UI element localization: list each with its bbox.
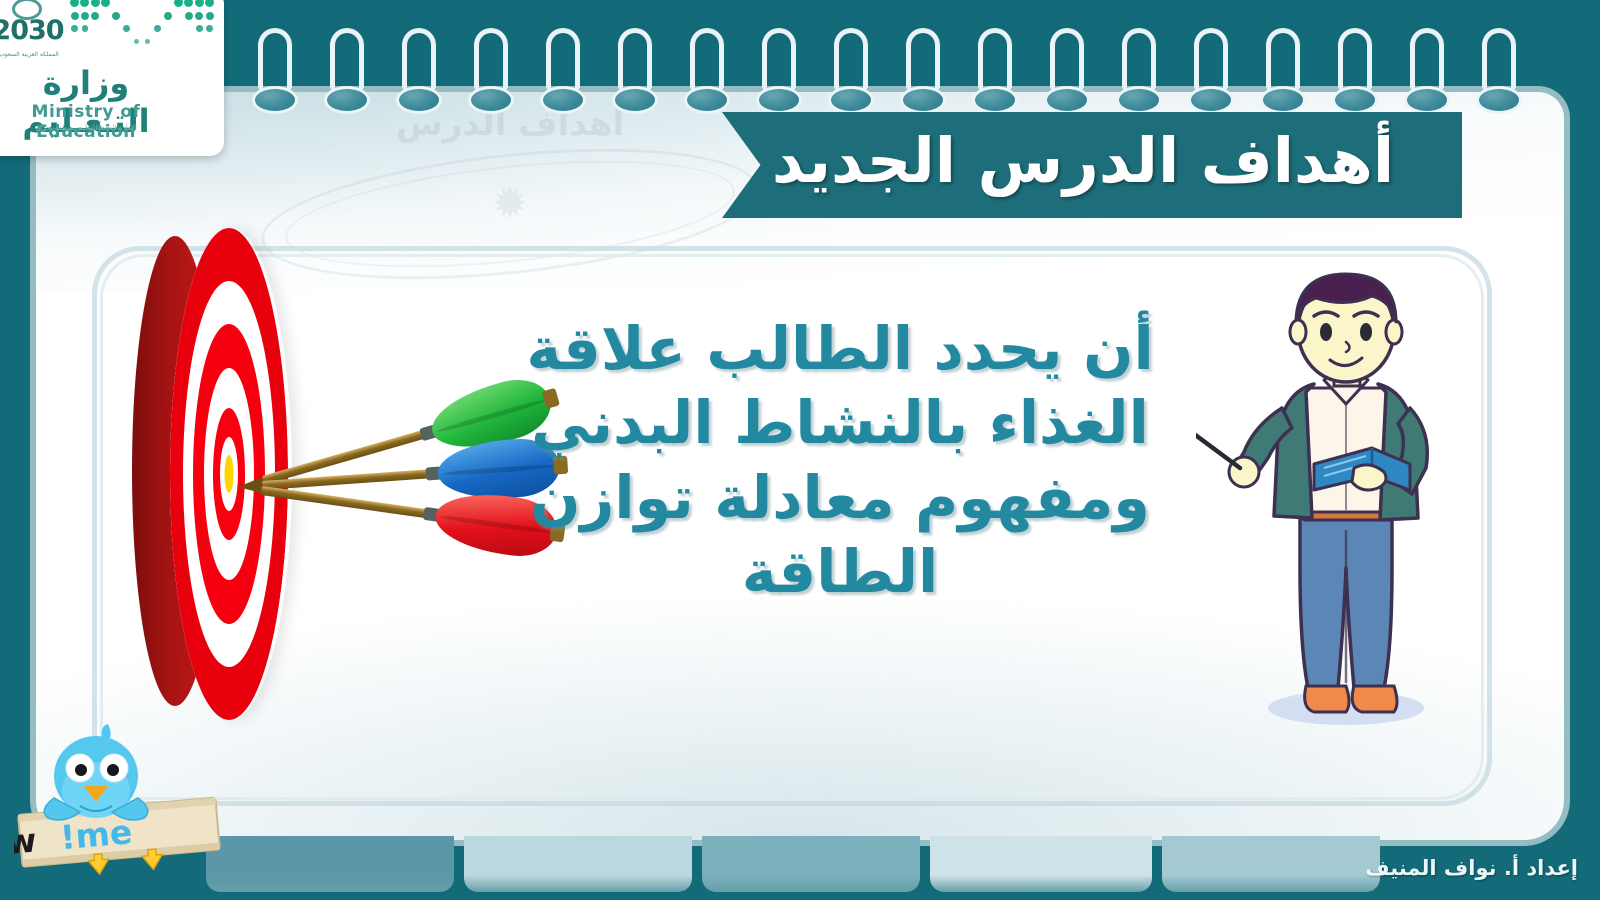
logo-dot: [71, 12, 79, 20]
spiral-ring-loop: [618, 28, 652, 90]
ministry-department-line: الإدارة العامة للتعليم بمنطقة نجران: [0, 124, 186, 132]
bottom-tab-1[interactable]: [206, 836, 454, 892]
slide-root: أهداف الدرس ✹ أهداف الدرس الجديد: [0, 0, 1600, 900]
logo-dot: [185, 12, 193, 20]
spiral-ring-loop: [1194, 28, 1228, 90]
logo-dot: [123, 25, 130, 32]
spiral-ring-loop: [258, 28, 292, 90]
spiral-ring-loop: [978, 28, 1012, 90]
dartboard-icon: [118, 228, 518, 728]
spiral-ring-loop: [762, 28, 796, 90]
bottom-tab-3[interactable]: [702, 836, 920, 892]
teacher-pointer-icon: [1196, 268, 1466, 738]
logo-dot: [164, 12, 172, 20]
follow-me-badge[interactable]: Follow me!: [14, 720, 228, 880]
spiral-ring-loop: [1122, 28, 1156, 90]
spiral-ring-loop: [1410, 28, 1444, 90]
spiral-ring-loop: [1482, 28, 1516, 90]
logo-dot: [81, 12, 89, 20]
logo-dot: [195, 12, 203, 20]
logo-dot: [112, 12, 120, 20]
logo-dot: [134, 39, 139, 44]
bottom-tab-strip: [0, 828, 1600, 900]
spiral-ring-loop: [474, 28, 508, 90]
spiral-ring-loop: [1050, 28, 1084, 90]
title-ribbon: أهداف الدرس الجديد: [722, 112, 1462, 218]
logo-dot: [82, 25, 89, 32]
logo-dot: [91, 0, 100, 7]
logo-dot: [71, 25, 78, 32]
ministry-name-en: Ministry of Education: [0, 102, 186, 142]
logo-dot: [195, 0, 204, 7]
logo-dot: [101, 0, 110, 7]
logo-dot: [184, 0, 193, 7]
spiral-ring-loop: [402, 28, 436, 90]
spiral-ring-loop: [834, 28, 868, 90]
page-title: أهداف الدرس الجديد: [756, 130, 1428, 200]
spiral-ring-loop: [330, 28, 364, 90]
spiral-ring-loop: [1266, 28, 1300, 90]
spiral-ring-loop: [690, 28, 724, 90]
objective-text: أن يحدد الطالب علاقة الغذاء بالنشاط البد…: [470, 312, 1210, 609]
spiral-ring-loop: [546, 28, 580, 90]
logo-dot: [205, 0, 214, 7]
logo-dot: [206, 25, 213, 32]
logo-dot: [174, 0, 183, 7]
logo-dot: [206, 12, 214, 20]
logo-dot: [154, 25, 161, 32]
vision-2030-logo: 2030 المملكة العربية السعودية: [0, 0, 64, 58]
bullseye: [225, 455, 234, 493]
svg-text:me!: me!: [59, 812, 134, 857]
logo-dot: [145, 39, 150, 44]
spiral-ring-loop: [906, 28, 940, 90]
spiral-ring-loop: [1338, 28, 1372, 90]
vision-2030-number: 2030: [0, 15, 64, 46]
logo-dot: [91, 12, 99, 20]
bottom-tab-5[interactable]: [1162, 836, 1380, 892]
vision-2030-subtitle: المملكة العربية السعودية: [0, 51, 64, 58]
logo-dot: [80, 0, 89, 7]
logo-dot: [70, 0, 79, 7]
bottom-tab-4[interactable]: [930, 836, 1152, 892]
author-credit: إعداد أ. نواف المنيف: [1365, 856, 1578, 880]
bottom-tab-2[interactable]: [464, 836, 692, 892]
ministry-logo-card: 2030 المملكة العربية السعودية وزارة التـ…: [0, 0, 224, 156]
moe-dot-pattern-icon: [70, 0, 216, 56]
logo-dot: [196, 25, 203, 32]
